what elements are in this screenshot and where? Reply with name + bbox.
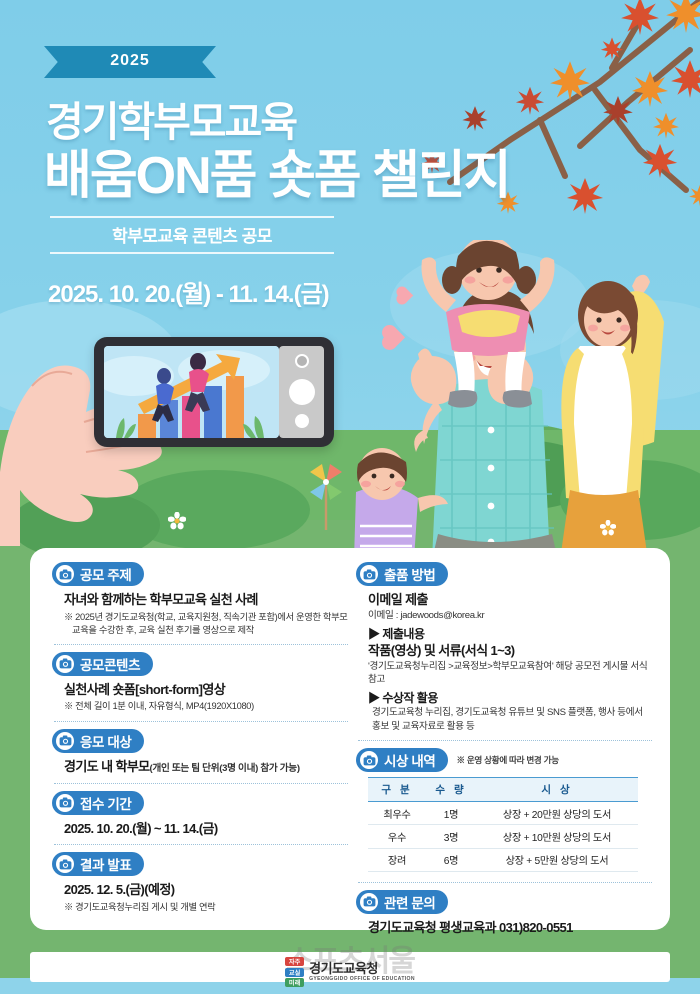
camera-icon — [56, 732, 74, 750]
badge-contest-content: 공모콘텐츠 — [52, 652, 153, 676]
camera-mode-button[interactable] — [295, 354, 309, 368]
section-body: 실천사례 숏폼[short-form]영상 ※ 전체 길이 1분 이내, 자유형… — [52, 676, 348, 714]
results-headline: 2025. 12. 5.(금)(예정) — [64, 881, 348, 899]
eligibility-detail: (개인 또는 팀 단위(3명 이내) 참가 가능) — [150, 763, 300, 774]
topic-headline: 자녀와 함께하는 학부모교육 실천 사례 — [64, 591, 348, 609]
logo-mark-1: 자주 — [285, 957, 304, 966]
section-body: 경기도 내 학부모(개인 또는 팀 단위(3명 이내) 참가 가능) — [52, 753, 348, 776]
section-divider — [54, 721, 348, 722]
awards-header-row: 시상 내역 ※ 운영 상황에 따라 변경 가능 — [356, 748, 652, 772]
contact-text: 경기도교육청 평생교육과 031)820-0551 — [368, 919, 652, 937]
section-divider — [54, 644, 348, 645]
badge-label: 공모콘텐츠 — [80, 654, 140, 674]
table-header-quantity: 수 량 — [426, 778, 476, 802]
section-contest-content: 공모콘텐츠 실천사례 숏폼[short-form]영상 ※ 전체 길이 1분 이… — [52, 652, 348, 714]
section-body: 이메일 제출 이메일 : jadewoods@korea.kr ▶ 제출내용 작… — [356, 586, 652, 733]
badge-awards: 시상 내역 — [356, 748, 448, 772]
smartphone-illustration — [94, 337, 334, 447]
table-row: 최우수 1명 상장 + 20만원 상당의 도서 — [368, 802, 638, 825]
left-info-column: 공모 주제 자녀와 함께하는 학부모교육 실천 사례 ※ 2025년 경기도교육… — [52, 562, 348, 921]
awards-table: 구 분 수 량 시 상 최우수 1명 상장 + 20만원 상당의 도서 우수 3… — [368, 777, 638, 872]
section-body: 자녀와 함께하는 학부모교육 실천 사례 ※ 2025년 경기도교육청(학교, … — [52, 586, 348, 637]
camera-icon — [56, 565, 74, 583]
section-results: 결과 발표 2025. 12. 5.(금)(예정) ※ 경기도교육청누리집 게시… — [52, 852, 348, 914]
table-row: 우수 3명 상장 + 10만원 상당의 도서 — [368, 825, 638, 848]
section-body: 2025. 12. 5.(금)(예정) ※ 경기도교육청누리집 게시 및 개별 … — [52, 876, 348, 914]
award-category: 최우수 — [368, 802, 426, 825]
content-note: ※ 전체 길이 1분 이내, 자유형식, MP4(1920X1080) — [64, 700, 348, 713]
badge-label: 시상 내역 — [384, 750, 435, 770]
camera-icon — [360, 751, 378, 769]
page-title-line2: 배움ON품 숏폼 챌린지 — [44, 133, 510, 208]
award-prize: 상장 + 10만원 상당의 도서 — [476, 825, 638, 848]
award-quantity: 6명 — [426, 848, 476, 871]
award-quantity: 3명 — [426, 825, 476, 848]
logo-mark-3: 미래 — [285, 978, 304, 987]
badge-label: 응모 대상 — [80, 731, 131, 751]
section-application-period: 접수 기간 2025. 10. 20.(월) ~ 11. 14.(금) — [52, 791, 348, 838]
right-info-column: 출품 방법 이메일 제출 이메일 : jadewoods@korea.kr ▶ … — [356, 562, 652, 943]
logo-marks: 자주 교실 미래 — [285, 957, 304, 987]
year-label: 2025 — [44, 52, 216, 70]
submission-email: 이메일 : jadewoods@korea.kr — [368, 609, 652, 622]
table-header-prize: 시 상 — [476, 778, 638, 802]
section-eligibility: 응모 대상 경기도 내 학부모(개인 또는 팀 단위(3명 이내) 참가 가능) — [52, 729, 348, 776]
camera-icon — [56, 794, 74, 812]
badge-label: 관련 문의 — [384, 892, 435, 912]
badge-label: 결과 발표 — [80, 854, 131, 874]
camera-icon — [56, 855, 74, 873]
section-divider — [358, 882, 652, 883]
award-prize: 상장 + 5만원 상당의 도서 — [476, 848, 638, 871]
submission-items-headline: 작품(영상) 및 서류(서식 1~3) — [368, 642, 652, 660]
section-awards: 시상 내역 ※ 운영 상황에 따라 변경 가능 구 분 수 량 시 상 최우수 … — [356, 748, 652, 872]
shutter-button[interactable] — [289, 379, 315, 405]
award-quantity: 1명 — [426, 802, 476, 825]
pinwheel-icon — [300, 462, 352, 532]
section-divider — [54, 783, 348, 784]
phone-camera-controls[interactable] — [279, 346, 324, 438]
logo-mark-2: 교실 — [285, 968, 304, 977]
table-header-row: 구 분 수 량 시 상 — [368, 778, 638, 802]
awards-note: ※ 운영 상황에 따라 변경 가능 — [456, 754, 558, 766]
badge-contact: 관련 문의 — [356, 890, 448, 914]
table-header-category: 구 분 — [368, 778, 426, 802]
section-body: 경기도교육청 평생교육과 031)820-0551 — [356, 914, 652, 937]
section-submission-method: 출품 방법 이메일 제출 이메일 : jadewoods@korea.kr ▶ … — [356, 562, 652, 733]
winning-usage-note: 경기도교육청 누리집, 경기도교육청 유튜브 및 SNS 플랫폼, 행사 등에서… — [368, 706, 652, 733]
logo-name-en: GYEONGGIDO OFFICE OF EDUCATION — [309, 977, 415, 982]
poster-subtitle: 학부모교육 콘텐츠 공모 — [50, 222, 334, 247]
eligibility-main: 경기도 내 학부모 — [64, 759, 150, 774]
badge-results: 결과 발표 — [52, 852, 144, 876]
info-card: 공모 주제 자녀와 함께하는 학부모교육 실천 사례 ※ 2025년 경기도교육… — [30, 548, 670, 930]
table-row: 장려 6명 상장 + 5만원 상당의 도서 — [368, 848, 638, 871]
flower-icon — [168, 512, 186, 530]
section-body: 2025. 10. 20.(월) ~ 11. 14.(금) — [52, 815, 348, 838]
submission-headline: 이메일 제출 — [368, 591, 652, 609]
camera-icon — [360, 893, 378, 911]
topic-note: ※ 2025년 경기도교육청(학교, 교육지원청, 직속기관 포함)에서 운영한… — [64, 611, 348, 637]
award-prize: 상장 + 20만원 상당의 도서 — [476, 802, 638, 825]
camera-icon — [56, 655, 74, 673]
logo-name-ko: 경기도교육청 — [309, 962, 415, 975]
badge-submission-method: 출품 방법 — [356, 562, 448, 586]
section-divider — [358, 740, 652, 741]
badge-label: 공모 주제 — [80, 564, 131, 584]
section-contact: 관련 문의 경기도교육청 평생교육과 031)820-0551 — [356, 890, 652, 937]
results-note: ※ 경기도교육청누리집 게시 및 개별 연락 — [64, 901, 348, 914]
badge-contest-topic: 공모 주제 — [52, 562, 144, 586]
badge-application-period: 접수 기간 — [52, 791, 144, 815]
badge-eligibility: 응모 대상 — [52, 729, 144, 753]
badge-label: 접수 기간 — [80, 793, 131, 813]
growth-chart-illustration — [104, 346, 279, 438]
camera-icon — [360, 565, 378, 583]
period-headline: 2025. 10. 20.(월) ~ 11. 14.(금) — [64, 820, 348, 838]
winning-usage-title: ▶ 수상작 활용 — [368, 689, 652, 706]
submission-items-title: ▶ 제출내용 — [368, 625, 652, 642]
award-category: 우수 — [368, 825, 426, 848]
flower-icon — [600, 520, 616, 536]
organization-logo: 자주 교실 미래 경기도교육청 GYEONGGIDO OFFICE OF EDU… — [0, 952, 700, 992]
gallery-button[interactable] — [295, 414, 309, 428]
submission-items-note: '경기도교육청누리집 >교육정보>학부모교육참여' 해당 공모전 게시물 서식 … — [368, 660, 652, 687]
eligibility-headline: 경기도 내 학부모(개인 또는 팀 단위(3명 이내) 참가 가능) — [64, 758, 348, 776]
poster-root: 2025 경기학부모교육 배움ON품 숏폼 챌린지 학부모교육 콘텐츠 공모 2… — [0, 0, 700, 994]
content-headline: 실천사례 숏폼[short-form]영상 — [64, 681, 348, 699]
section-contest-topic: 공모 주제 자녀와 함께하는 학부모교육 실천 사례 ※ 2025년 경기도교육… — [52, 562, 348, 637]
logo-text: 경기도교육청 GYEONGGIDO OFFICE OF EDUCATION — [309, 962, 415, 983]
phone-screen — [104, 346, 279, 438]
title-divider-top — [50, 216, 334, 218]
section-divider — [54, 844, 348, 845]
badge-label: 출품 방법 — [384, 564, 435, 584]
award-category: 장려 — [368, 848, 426, 871]
